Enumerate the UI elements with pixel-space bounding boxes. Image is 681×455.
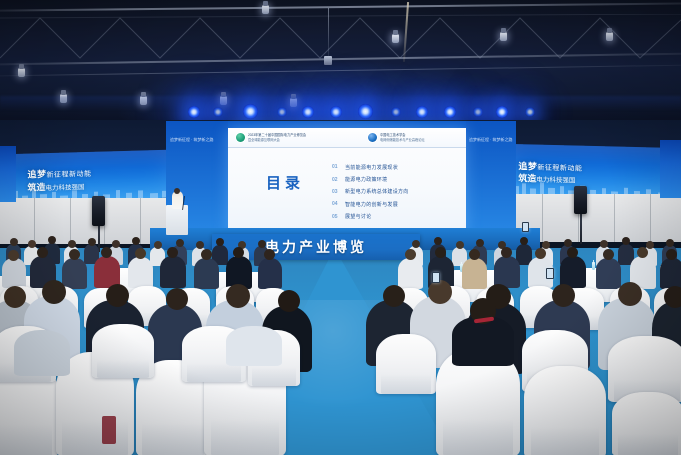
toc-item-label: 智能电力的创新与发展: [345, 201, 398, 208]
wall-banner-left: 追梦新征程新动能 筑造电力科技强国: [0, 150, 172, 203]
banner-r2-bold: 筑造: [518, 174, 536, 184]
booth-panel-wall-left: [0, 198, 170, 244]
slide-toc-list: 01 当前能源电力发展现状 02 能源电力政策环境 03 新型电力系统总体建设方…: [332, 161, 409, 223]
pa-speaker-left: [92, 196, 105, 226]
banner-l1-rest: 新征程新动能: [47, 171, 92, 179]
backdrop-right-pillar-text: 追梦新征程 · 筑梦新之路: [469, 137, 513, 143]
banner-r1-rest: 新征程新动能: [537, 165, 582, 173]
ceiling-spotlight: [392, 34, 399, 43]
slide-header-left-text: 2023年第二十届中国国际电力产业博览会 暨全球能源互联网大会: [248, 133, 306, 143]
chair: [92, 324, 154, 378]
ceiling-truss-front: [0, 2, 681, 11]
slide-header: 2023年第二十届中国国际电力产业博览会 暨全球能源互联网大会 中国电工技术学会…: [228, 128, 466, 148]
banner-l2-rest: 电力科技强国: [46, 184, 85, 192]
organizer-logo-left-icon: [236, 133, 245, 142]
slide-title: 目录: [266, 172, 304, 193]
ceiling-spotlight: [500, 32, 507, 41]
toc-item-number: 01: [332, 164, 345, 170]
toc-item-number: 05: [332, 214, 345, 220]
toc-item-label: 展望与讨论: [345, 213, 372, 220]
bag: [102, 416, 116, 444]
slide-header-right-text: 中国电工技术学会 电网侧储能技术与产业高峰论坛: [380, 133, 425, 143]
chair: [376, 334, 436, 394]
toc-item: 05 展望与讨论: [332, 211, 409, 223]
ceiling-truss-back: [0, 64, 681, 76]
wall-banner-right-text: 追梦新征程新动能 筑造电力科技强国: [518, 160, 582, 187]
toc-item: 03 新型电力系统总体建设方向: [332, 186, 409, 198]
header-right-line2: 电网侧储能技术与产业高峰论坛: [380, 138, 425, 143]
stage-front-banner-text: 电力产业博览: [265, 237, 367, 257]
smartphone-recording: [522, 222, 529, 232]
toc-item-number: 03: [332, 189, 345, 195]
water-bottle: [592, 262, 595, 270]
ceiling-spotlight: [18, 68, 25, 77]
hanging-fixture: [324, 56, 332, 65]
wall-banner-left-text: 追梦新征程新动能 筑造电力科技强国: [28, 167, 92, 194]
ceiling-spotlight: [606, 32, 613, 41]
toc-item-label: 当前能源电力发展现状: [345, 164, 398, 171]
header-left-line2: 暨全球能源互联网大会: [248, 138, 306, 143]
truss-lattice-icon: [0, 14, 681, 60]
toc-item-number: 04: [332, 201, 345, 207]
banner-l1-bold: 追梦: [28, 169, 47, 180]
side-banner-far-right: [660, 140, 681, 198]
speaker-stand-pole-right: [580, 210, 582, 244]
chair: [612, 392, 681, 455]
podium: [166, 205, 188, 235]
backdrop-left-pillar-text: 追梦新征程 · 筑梦新之路: [170, 137, 214, 143]
banner-r1-bold: 追梦: [518, 161, 537, 171]
conference-hall-scene: 追梦新征程新动能 筑造电力科技强国 追梦新征程新动能 筑造电力科技强国: [0, 0, 681, 455]
smartphone-recording: [432, 272, 440, 283]
toc-item-number: 02: [332, 177, 345, 183]
presenter-head: [174, 188, 180, 194]
wall-banner-right: 追梦新征程新动能 筑造电力科技强国: [508, 144, 681, 198]
banner-r2-rest: 电力科技强国: [536, 177, 575, 185]
toc-item-label: 新型电力系统总体建设方向: [345, 188, 409, 195]
smartphone-recording: [546, 268, 554, 279]
chair: [524, 366, 606, 455]
backdrop-right-pillar: 追梦新征程 · 筑梦新之路: [466, 121, 516, 245]
banner-l2-bold: 筑造: [28, 182, 46, 193]
pa-speaker-right: [574, 186, 587, 214]
organizer-logo-right-icon: [368, 133, 377, 142]
hanging-wire: [328, 8, 329, 60]
ceiling-spotlight: [262, 5, 269, 14]
toc-item: 02 能源电力政策环境: [332, 173, 409, 185]
toc-item: 01 当前能源电力发展现状: [332, 161, 409, 173]
side-banner-far-left: [0, 146, 16, 202]
presentation-slide: 2023年第二十届中国国际电力产业博览会 暨全球能源互联网大会 中国电工技术学会…: [228, 128, 466, 232]
toc-item: 04 智能电力的创新与发展: [332, 198, 409, 210]
toc-item-label: 能源电力政策环境: [345, 176, 387, 183]
